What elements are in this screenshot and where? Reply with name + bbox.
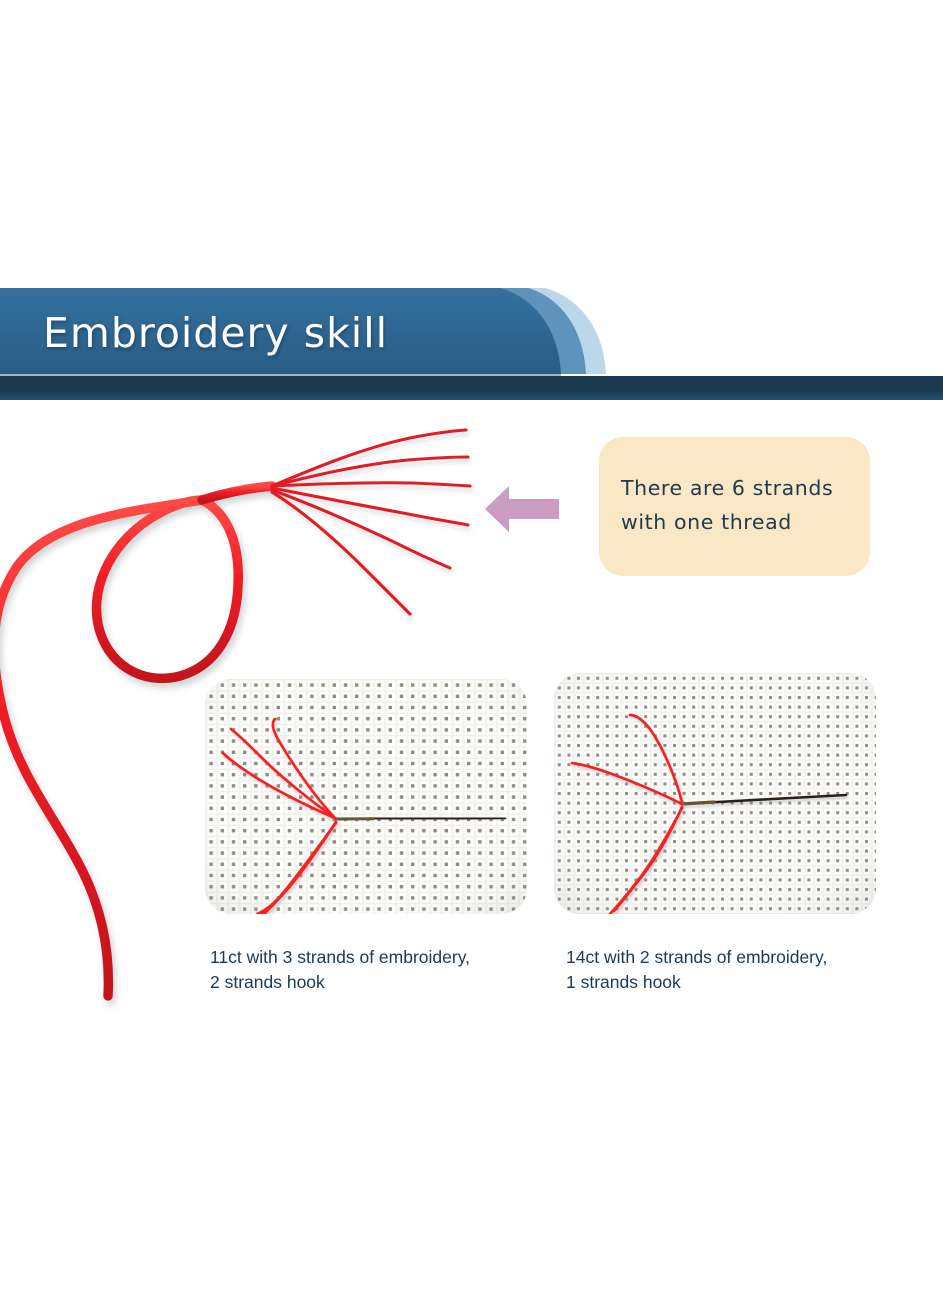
- photo-left-content: [205, 679, 527, 914]
- header-banner: Embroidery skill: [0, 288, 943, 400]
- photo-14ct-aida: [554, 673, 876, 914]
- callout-line-1: There are 6 strands: [621, 471, 870, 505]
- strand-group: [272, 430, 470, 614]
- left-arrow-icon: [483, 481, 561, 537]
- photo-vignette: [205, 679, 527, 914]
- embroidery-skill-page: Embroidery skill: [0, 0, 943, 1312]
- needle-eye-area: [682, 802, 714, 804]
- strand-3: [272, 483, 470, 486]
- thread-neck: [202, 486, 272, 500]
- photo-11ct-aida: [205, 679, 527, 914]
- caption-11ct: 11ct with 3 strands of embroidery, 2 str…: [210, 945, 540, 995]
- page-title: Embroidery skill: [43, 294, 563, 372]
- banner-underbar: [0, 376, 943, 400]
- photo-vignette: [554, 673, 876, 914]
- thread-loop: [96, 500, 238, 678]
- callout-box: There are 6 strands with one thread: [599, 437, 870, 576]
- arrow-shape: [485, 486, 559, 532]
- caption-14ct: 14ct with 2 strands of embroidery, 1 str…: [566, 945, 906, 995]
- strand-5: [272, 490, 450, 568]
- photo-right-content: [554, 673, 876, 914]
- callout-line-2: with one thread: [621, 505, 870, 539]
- strand-4: [272, 488, 468, 525]
